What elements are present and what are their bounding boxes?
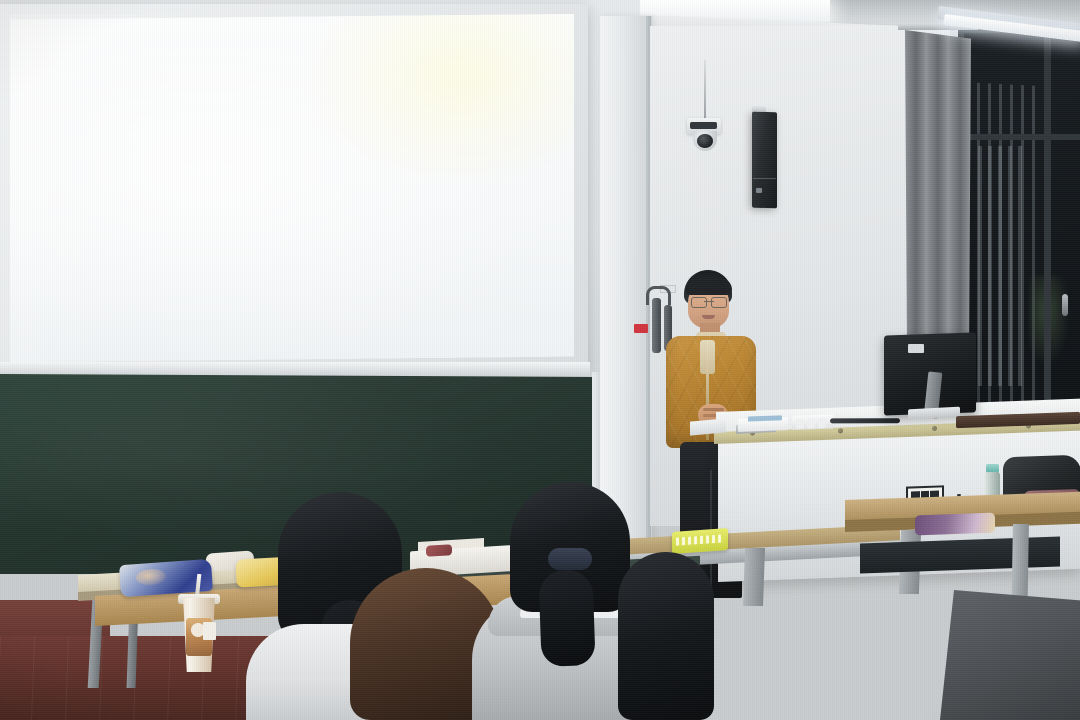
glasses-bridge [704,301,714,302]
desk-bracket [743,548,765,606]
ink-wash-mountains-icon [274,177,574,333]
purple-cloth-bundle[interactable] [915,513,995,536]
cup-label [203,622,216,640]
slide-title-line1: 智慧跨越千年 [82,102,298,146]
lectern-screw [932,426,937,431]
chair-right[interactable] [940,590,1080,720]
window-frame-mullion [1044,26,1051,456]
red-object-on-desk [426,544,452,556]
night-window [958,26,1080,456]
projection-screen-frame: 南京大学艺术学院沙龙 智慧跨越千年 ——老子其人其书 南京大学哲学学院 包蕾 [0,4,588,374]
presenter-mouth [702,315,715,319]
white-control-box[interactable] [792,414,834,430]
cable [830,418,900,423]
wall-pillar [600,16,652,576]
student-front-right-hair [618,552,714,720]
presentation-slide: 南京大学艺术学院沙龙 智慧跨越千年 ——老子其人其书 南京大学哲学学院 包蕾 [10,14,574,362]
classroom-photo: 南京大学艺术学院沙龙 智慧跨越千年 ——老子其人其书 南京大学哲学学院 包蕾 [0,0,1080,720]
presenter-fringe [685,278,732,295]
camera-band [690,122,717,129]
chalk-box[interactable] [672,528,728,554]
speaker-indicator-icon [756,188,762,193]
student-front-center-ponytail [538,569,595,667]
slide-subtitle-affiliation: 南京大学哲学学院 [86,235,246,258]
hair-tie-icon [548,548,592,570]
camera-cable [704,60,706,120]
projection-screen: 南京大学艺术学院沙龙 智慧跨越千年 ——老子其人其书 南京大学哲学学院 包蕾 [10,14,574,362]
column-speaker-icon [752,112,777,209]
red-marker-strip [634,324,648,333]
camera-lens-icon [697,134,713,148]
window-frame-transom [958,134,1080,140]
speaker-seam [753,178,776,179]
slide-header-text: 南京大学艺术学院沙龙 [401,52,526,71]
window-handle-icon[interactable] [1062,294,1068,316]
window-reflection [978,146,1024,386]
monitor-label-icon [908,344,924,353]
